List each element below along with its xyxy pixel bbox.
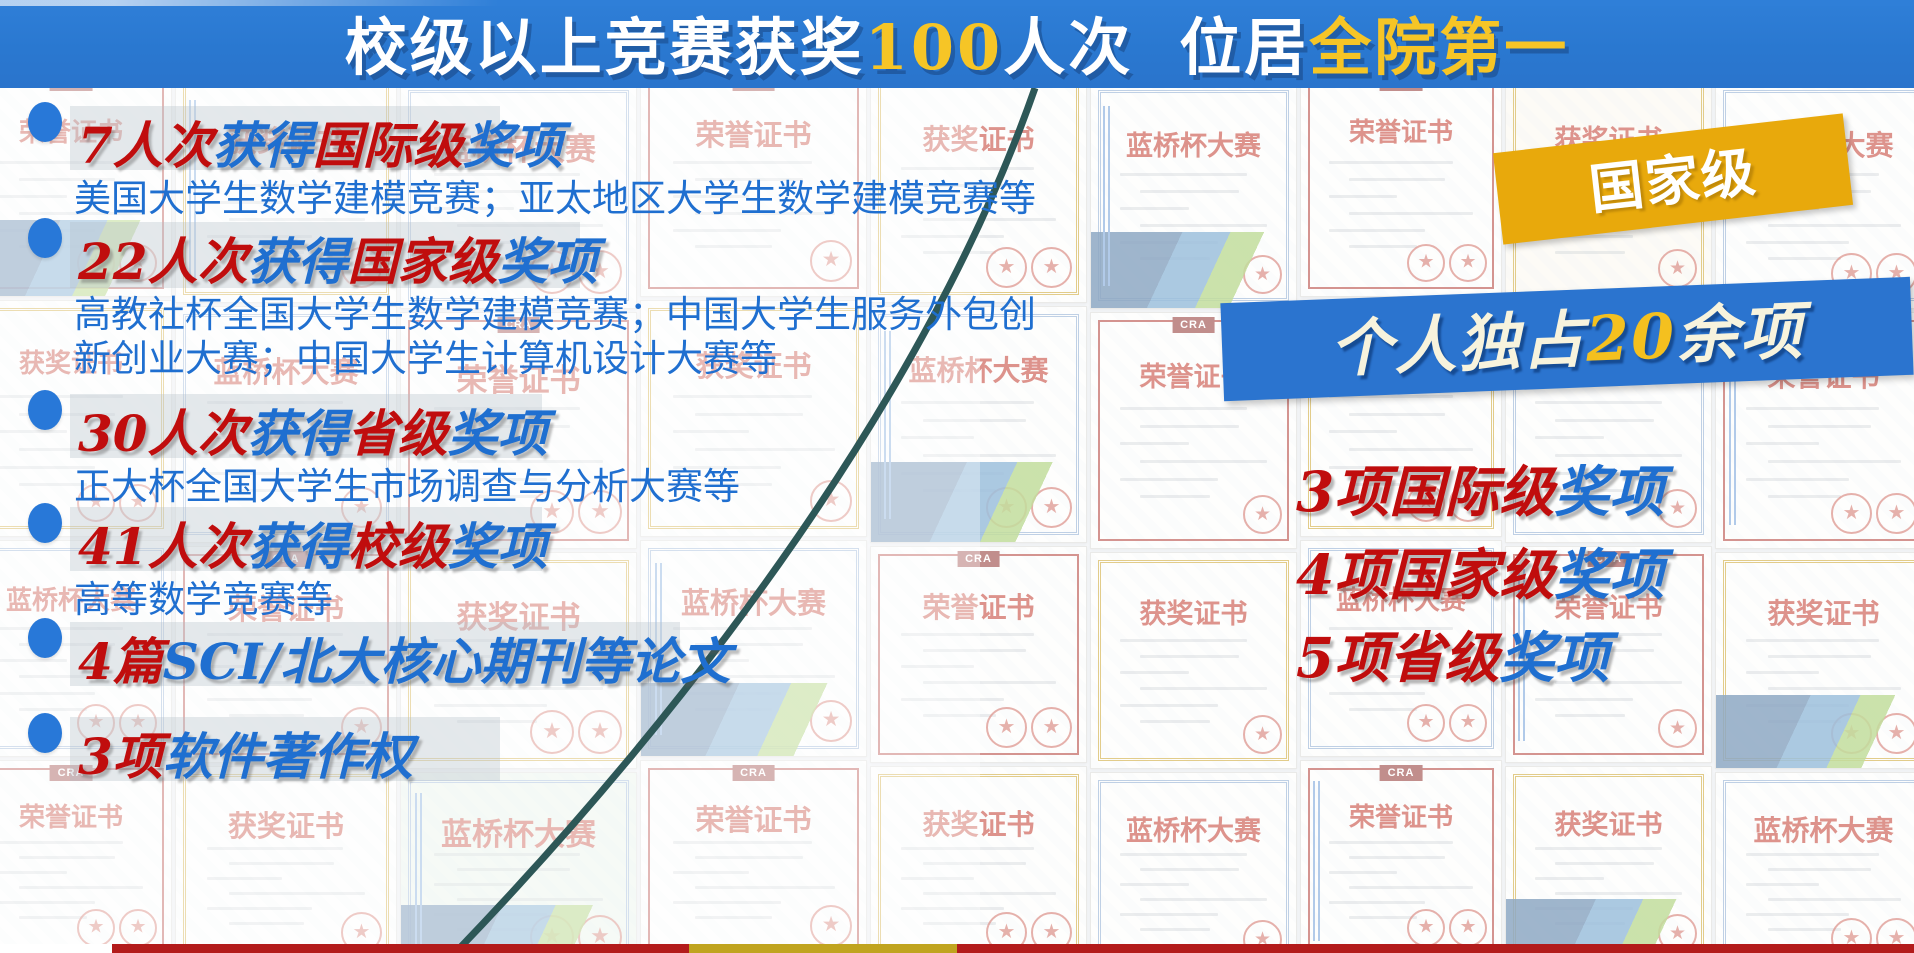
item-verb: 获得 [248,517,348,576]
right-count: 4项国家级 [1296,542,1554,607]
bullet-icon [28,102,62,142]
item-noun: 软件著作权 [163,727,413,786]
banner-suffix: 余项 [1675,294,1806,372]
title-number-100: 100 [865,10,1003,86]
bullet-icon [28,390,62,430]
item-noun: 奖项 [498,232,598,291]
right-noun: 奖项 [1554,542,1664,607]
right-noun: 奖项 [1554,459,1664,524]
bullet-icon [28,503,62,543]
banner-number: 20 [1584,299,1677,375]
list-item-detail: 高等数学竞赛等 [74,569,333,623]
item-level: 国家级 [348,232,498,291]
title-part-1: 校级以上竞赛获奖 [345,10,865,86]
header-highlight [0,0,1914,6]
title-part-3: 位居 [1179,10,1309,86]
right-count: 3项国际级 [1296,459,1554,524]
right-noun: 奖项 [1499,625,1609,690]
list-item-detail: 正大杯全国大学生市场调查与分析大赛等 [74,456,740,510]
item-noun: 奖项 [448,404,548,463]
item-count: 22人次 [78,232,248,291]
item-noun: 奖项 [448,517,548,576]
title-spacer [1133,10,1179,86]
item-count: 41人次 [78,517,248,576]
item-verb: 获得 [248,232,348,291]
right-count: 5项省级 [1296,625,1499,690]
item-verb: 获得 [248,404,348,463]
item-count: 3项 [78,727,163,786]
right-achievement-line: 5项省级奖项 [1296,613,1609,693]
right-achievement-line: 4项国家级奖项 [1296,530,1664,610]
right-achievement-line: 3项国际级奖项 [1296,447,1664,527]
poster-root: CRA荣誉证书获奖证书蓝桥杯大赛CRA荣誉证书获奖证书蓝桥杯大赛CRA荣誉证书获… [0,0,1914,953]
item-count: 4篇 [78,632,163,691]
list-item-detail-line2: 新创业大赛；中国大学生计算机设计大赛等 [74,328,777,382]
bottom-rule [0,944,1914,953]
item-level: 省级 [348,404,448,463]
bullet-icon [28,713,62,753]
item-count: 30人次 [78,404,248,463]
list-item-detail: 美国大学生数学建模竞赛；亚太地区大学生数学建模竞赛等 [74,168,1036,222]
item-noun: SCI/北大核心期刊等论文 [163,632,731,691]
item-count: 7人次 [78,116,213,175]
item-verb: 获得 [213,116,313,175]
item-level: 国际级 [313,116,463,175]
bullet-icon [28,218,62,258]
item-noun: 奖项 [463,116,563,175]
page-title: 校级以上竞赛获奖100人次 位居全院第一 [0,10,1914,86]
bullet-icon [28,618,62,658]
title-part-4: 全院第一 [1309,10,1569,86]
list-item-headline: 3项软件著作权 [78,717,413,789]
banner-prefix: 个人独占 [1329,303,1588,386]
list-item-headline: 4篇SCI/北大核心期刊等论文 [78,622,730,694]
bottom-rule-gap [0,944,112,953]
title-part-2: 人次 [1003,10,1133,86]
item-level: 校级 [348,517,448,576]
